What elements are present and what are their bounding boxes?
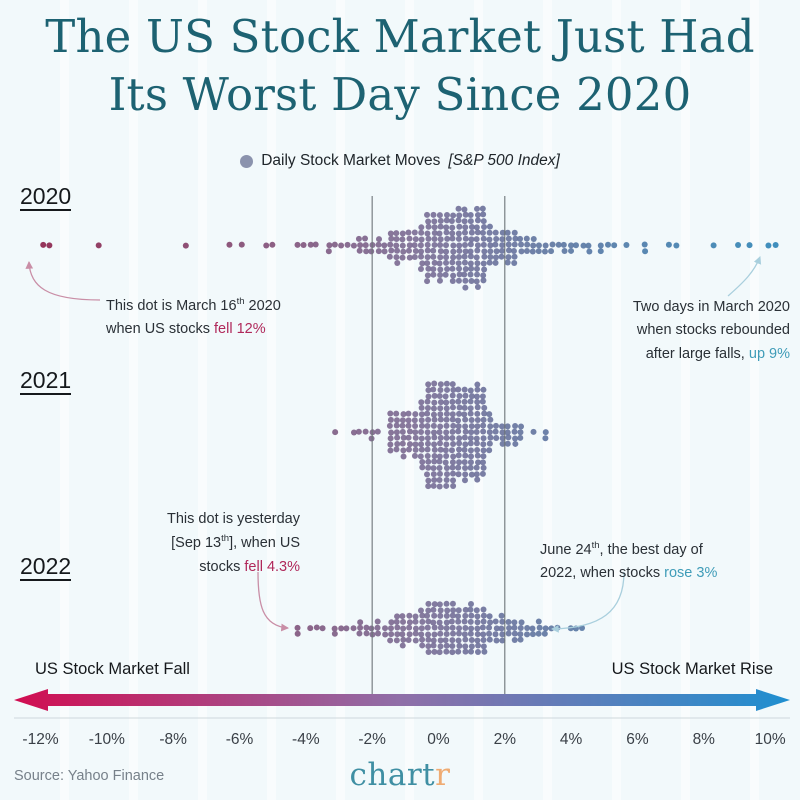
annotation-rebound-line-1: Two days in March 2020 — [590, 296, 790, 319]
anno-highlight-fall: fell 4.3% — [244, 559, 300, 575]
annotation-june-24-line-1: June 24th, the best day of — [540, 538, 770, 562]
anno-text: 2020 — [245, 298, 281, 314]
axis-label-rise: US Stock Market Rise — [612, 660, 773, 679]
anno-sup: th — [221, 533, 229, 544]
axis-tick-10pct: 10% — [755, 731, 786, 749]
annotation-march-16-line-1: This dot is March 16th 2020 — [106, 294, 346, 318]
logo-accent: r — [435, 757, 450, 793]
annotation-rebound-line-2: when stocks rebounded — [590, 319, 790, 342]
anno-text: June 24 — [540, 542, 592, 558]
annotation-rebound-line-3: after large falls, up 9% — [590, 343, 790, 366]
anno-highlight-fall: fell 12% — [214, 321, 266, 337]
anno-sup: th — [237, 296, 245, 307]
anno-text: 2022, when stocks — [540, 565, 664, 581]
year-label-2021: 2021 — [20, 368, 71, 395]
overlay-layer: The US Stock Market Just Had Its Worst D… — [0, 0, 800, 800]
legend-label: Daily Stock Market Moves — [261, 152, 440, 170]
annotation-june-24-line-2: 2022, when stocks rose 3% — [540, 562, 770, 585]
annotation-march-16-line-2: when US stocks fell 12% — [106, 318, 346, 341]
logo-text: chart — [350, 757, 436, 793]
annotation-yesterday-line-1: This dot is yesterday — [140, 508, 300, 531]
legend: Daily Stock Market Moves [S&P 500 Index] — [0, 152, 800, 170]
title-line-1: The US Stock Market Just Had — [45, 10, 754, 63]
axis-tick-0pct: 0% — [427, 731, 449, 749]
axis-tick-neg12pct: -12% — [22, 731, 58, 749]
axis-tick-neg4pct: -4% — [292, 731, 320, 749]
axis-tick-neg2pct: -2% — [358, 731, 386, 749]
anno-text: , the best day of — [600, 542, 703, 558]
annotation-rebound: Two days in March 2020 when stocks rebou… — [590, 296, 790, 366]
axis-tick-4pct: 4% — [560, 731, 582, 749]
year-label-2020: 2020 — [20, 184, 71, 211]
axis-label-fall: US Stock Market Fall — [35, 660, 190, 679]
annotation-yesterday-line-2: [Sep 13th], when US — [140, 531, 300, 555]
annotation-june-24: June 24th, the best day of 2022, when st… — [540, 538, 770, 586]
axis-tick-neg8pct: -8% — [159, 731, 187, 749]
axis-tick-6pct: 6% — [626, 731, 648, 749]
annotation-march-16: This dot is March 16th 2020 when US stoc… — [106, 294, 346, 342]
axis-tick-8pct: 8% — [693, 731, 715, 749]
anno-text: This dot is March 16 — [106, 298, 237, 314]
year-label-2022: 2022 — [20, 554, 71, 581]
annotation-yesterday: This dot is yesterday [Sep 13th], when U… — [140, 508, 300, 579]
anno-text: ], when US — [229, 535, 300, 551]
anno-text: stocks — [199, 559, 244, 575]
anno-text: when US stocks — [106, 321, 214, 337]
legend-sublabel: [S&P 500 Index] — [448, 152, 559, 170]
axis-tick-neg6pct: -6% — [226, 731, 254, 749]
axis-tick-2pct: 2% — [494, 731, 516, 749]
chartr-logo: chartr — [0, 757, 800, 793]
anno-highlight-rise: up 9% — [749, 346, 790, 362]
anno-text: [Sep 13 — [171, 535, 221, 551]
anno-sup: th — [592, 540, 600, 551]
legend-dot-icon — [240, 155, 253, 168]
anno-text: after large falls, — [646, 346, 749, 362]
infographic-canvas: The US Stock Market Just Had Its Worst D… — [0, 0, 800, 800]
page-title: The US Stock Market Just Had Its Worst D… — [0, 8, 800, 123]
anno-highlight-rise: rose 3% — [664, 565, 717, 581]
title-line-2: Its Worst Day Since 2020 — [0, 66, 800, 124]
axis-tick-neg10pct: -10% — [89, 731, 125, 749]
annotation-yesterday-line-3: stocks fell 4.3% — [140, 556, 300, 579]
